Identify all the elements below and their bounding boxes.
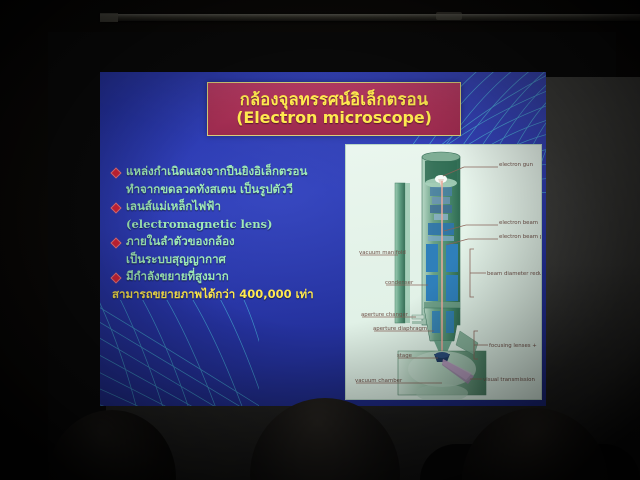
rail-end-cap <box>100 13 118 22</box>
bullet-item: มีกำลังขยายที่สูงมาก <box>112 269 352 285</box>
diamond-bullet-icon <box>110 202 121 213</box>
bullet-item: ภายในลำตัวของกล้อง <box>112 234 352 250</box>
bullet-item: แหล่งกำเนิดแสงจากปืนยิงอิเล็กตรอน <box>112 164 352 180</box>
bullet-item: เลนส์แม่เหล็กไฟฟ้า <box>112 199 352 215</box>
bullet-text: เป็นระบบสุญญากาศ <box>126 252 226 268</box>
bullet-text: แหล่งกำเนิดแสงจากปืนยิงอิเล็กตรอน <box>126 164 307 180</box>
figure-label-electron-beam-positioning: electron beam positioning <box>499 234 541 240</box>
figure-label-aperture-changer: aperture changer <box>361 312 409 318</box>
bullet-text: เลนส์แม่เหล็กไฟฟ้า <box>126 199 221 215</box>
figure-label-electron-gun: electron gun <box>499 162 533 168</box>
wireframe-mesh-bottom-left <box>100 300 259 406</box>
screen-mount-rail <box>100 14 640 21</box>
bullet-text: ภายในลำตัวของกล้อง <box>126 234 235 250</box>
figure-label-electron-beam: electron beam <box>499 220 538 226</box>
figure-label-vacuum-chamber: vacuum chamber <box>355 378 403 384</box>
photo-scene: กล้องจุลทรรศน์อิเล็กตรอน (Electron micro… <box>0 0 640 480</box>
slide-bullet-list: แหล่งกำเนิดแสงจากปืนยิงอิเล็กตรอน ทำจากข… <box>112 164 352 304</box>
bullet-text: (electromagnetic lens) <box>126 217 272 233</box>
figure-label-condenser: condenser <box>385 280 414 286</box>
bullet-subline: เป็นระบบสุญญากาศ <box>112 252 352 268</box>
figure-label-vacuum-manifold: vacuum manifold <box>359 250 406 256</box>
slide-title-box: กล้องจุลทรรศน์อิเล็กตรอน (Electron micro… <box>207 82 461 136</box>
bullet-subline: ทำจากขดลวดทังสเตน เป็นรูปตัววี <box>112 182 352 198</box>
diamond-bullet-icon <box>110 272 121 283</box>
diamond-bullet-icon <box>110 237 121 248</box>
diamond-bullet-icon <box>110 167 121 178</box>
bullet-subline: (electromagnetic lens) <box>112 217 352 233</box>
electron-microscope-figure: electron gun electron beam electron beam… <box>345 144 542 400</box>
bullet-text: ทำจากขดลวดทังสเตน เป็นรูปตัววี <box>126 182 293 198</box>
bullet-text-highlight: สามารถขยายภาพได้กว่า 400,000 เท่า <box>112 287 314 303</box>
bullet-subline: สามารถขยายภาพได้กว่า 400,000 เท่า <box>112 287 352 303</box>
presentation-slide: กล้องจุลทรรศน์อิเล็กตรอน (Electron micro… <box>100 72 546 406</box>
figure-label-visual-transmission: visual transmission <box>483 377 535 383</box>
rail-knob <box>436 12 462 20</box>
figure-label-stage: stage <box>397 353 413 359</box>
figure-label-aperture-diaphragm: aperture diaphragm <box>373 326 427 332</box>
slide-title-thai: กล้องจุลทรรศน์อิเล็กตรอน <box>240 91 428 109</box>
microscope-cutaway-svg: electron gun electron beam electron beam… <box>346 145 541 399</box>
figure-label-focusing-lenses: focusing lenses + <box>489 343 537 349</box>
slide-title-english: (Electron microscope) <box>236 109 432 126</box>
bullet-text: มีกำลังขยายที่สูงมาก <box>126 269 229 285</box>
figure-label-beam-diameter-reduction: beam diameter reduction <box>487 271 541 277</box>
